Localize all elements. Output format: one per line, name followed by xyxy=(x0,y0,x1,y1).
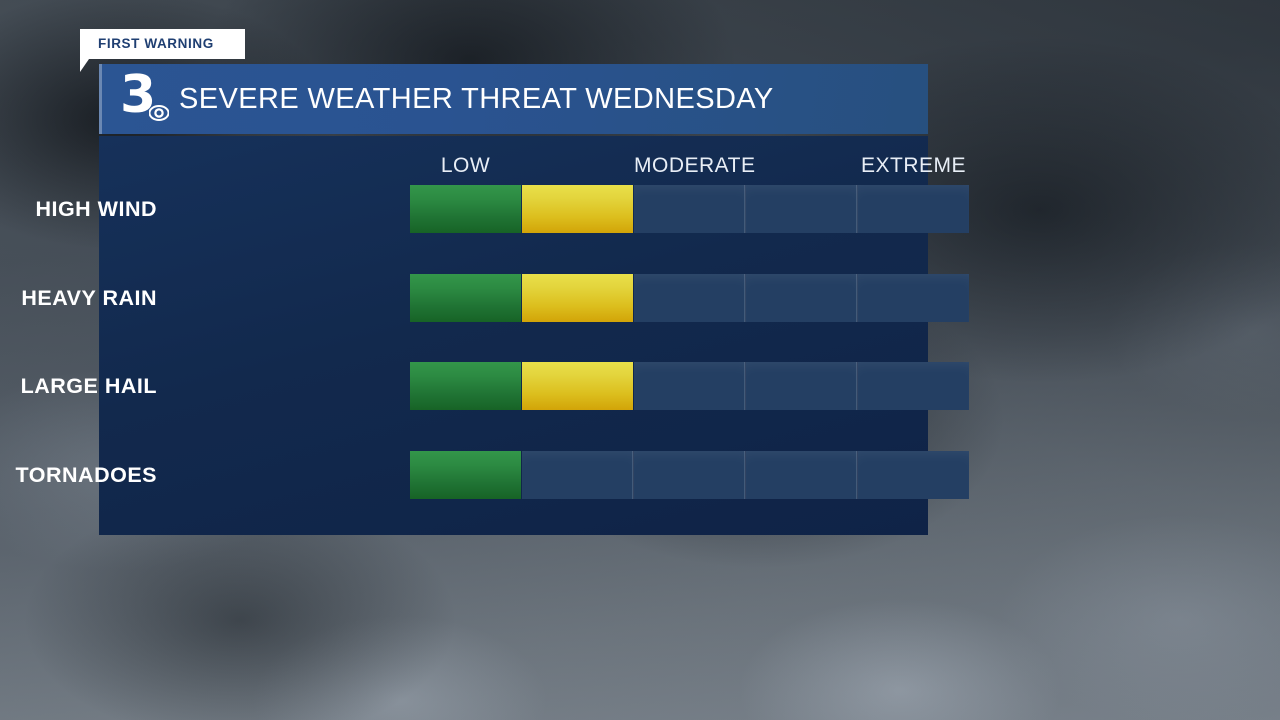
weather-graphic-stage: FIRST WARNING 3 SEVERE WEATHER THREAT WE… xyxy=(0,0,1280,720)
first-warning-tag: FIRST WARNING xyxy=(80,29,245,59)
cell-large-hail-4 xyxy=(746,362,857,410)
divider-row3-a xyxy=(744,362,746,410)
first-warning-label: FIRST WARNING xyxy=(98,29,214,59)
cell-heavy-rain-1 xyxy=(410,274,521,322)
channel-3-logo: 3 xyxy=(120,74,172,124)
cell-large-hail-1 xyxy=(410,362,521,410)
divider-row3-b xyxy=(856,362,858,410)
cell-tornadoes-5 xyxy=(858,451,969,499)
row-label-large-hail: LARGE HAIL xyxy=(21,362,157,410)
cell-heavy-rain-2 xyxy=(522,274,633,322)
header-bar: 3 SEVERE WEATHER THREAT WEDNESDAY xyxy=(99,64,928,134)
cell-tornadoes-3 xyxy=(634,451,745,499)
divider-row2-a xyxy=(744,274,746,322)
cell-heavy-rain-4 xyxy=(746,274,857,322)
divider-row1-a xyxy=(744,185,746,233)
cell-large-hail-2 xyxy=(522,362,633,410)
cell-high-wind-3 xyxy=(634,185,745,233)
row-label-heavy-rain: HEAVY RAIN xyxy=(21,274,157,322)
divider-row1-b xyxy=(856,185,858,233)
header-left-accent xyxy=(99,64,102,134)
cell-tornadoes-1 xyxy=(410,451,521,499)
cell-high-wind-2 xyxy=(522,185,633,233)
page-title: SEVERE WEATHER THREAT WEDNESDAY xyxy=(179,64,774,134)
cell-high-wind-5 xyxy=(858,185,969,233)
cell-heavy-rain-5 xyxy=(858,274,969,322)
cell-tornadoes-2 xyxy=(522,451,633,499)
cell-high-wind-1 xyxy=(410,185,521,233)
threat-matrix-panel: LOW MODERATE EXTREME HIGH WIND HEAVY RAI… xyxy=(99,136,928,535)
scale-label-extreme: EXTREME xyxy=(858,154,969,178)
scale-label-moderate: MODERATE xyxy=(634,154,745,178)
cell-large-hail-3 xyxy=(634,362,745,410)
divider-row4-b xyxy=(744,451,746,499)
scale-label-low: LOW xyxy=(410,154,521,178)
cbs-eye-icon xyxy=(149,103,169,123)
cell-large-hail-5 xyxy=(858,362,969,410)
row-label-high-wind: HIGH WIND xyxy=(35,185,157,233)
row-label-tornadoes: TORNADOES xyxy=(16,451,157,499)
divider-row2-b xyxy=(856,274,858,322)
cell-high-wind-4 xyxy=(746,185,857,233)
cell-tornadoes-4 xyxy=(746,451,857,499)
first-warning-tag-tail xyxy=(80,59,89,72)
cell-heavy-rain-3 xyxy=(634,274,745,322)
divider-row4-c xyxy=(856,451,858,499)
divider-row4-a xyxy=(632,451,634,499)
